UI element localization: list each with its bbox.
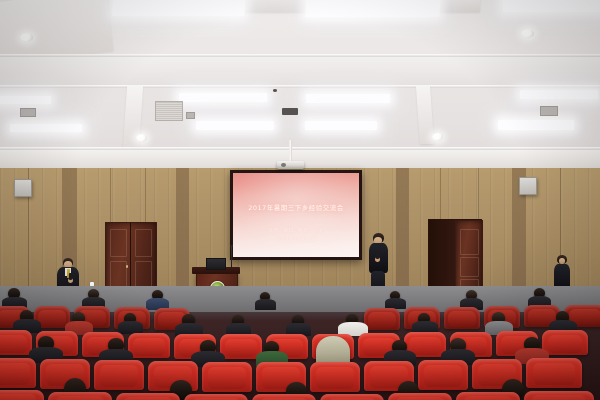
seat-c9[interactable] bbox=[418, 360, 468, 390]
projection-screen: 2017年暑期三下乡经验交流会 动院、动科、机电、人文 2017年10月13日 bbox=[230, 170, 362, 260]
seat-d2[interactable] bbox=[48, 392, 112, 400]
door-left-panel-top bbox=[110, 229, 127, 257]
seat-d1[interactable] bbox=[0, 390, 44, 400]
wall-column-mid bbox=[176, 168, 189, 300]
lectern-microphone-head bbox=[230, 245, 233, 247]
slide-title: 2017年暑期三下乡经验交流会 bbox=[233, 202, 359, 212]
seat-d9[interactable] bbox=[524, 391, 594, 400]
ceiling-vent-small-left bbox=[20, 108, 36, 117]
lectern-microphone-stand bbox=[231, 246, 232, 268]
ceiling-panel-light-2 bbox=[305, 0, 440, 17]
ceiling-panel-light-4 bbox=[0, 96, 51, 104]
seat-d8[interactable] bbox=[456, 392, 520, 400]
slide-subtitle: 动院、动科、机电、人文 bbox=[233, 228, 359, 234]
ceiling-panel-light-1 bbox=[112, 0, 246, 16]
ceiling-smoke-detector bbox=[273, 89, 277, 92]
ceiling-trim-3 bbox=[0, 147, 600, 150]
seat-d5[interactable] bbox=[252, 394, 316, 400]
door-right-panel-mid bbox=[460, 257, 479, 277]
ceiling-panel-light-10 bbox=[520, 90, 598, 99]
seat-b1[interactable] bbox=[0, 330, 32, 355]
ceiling-panel-light-8 bbox=[306, 94, 390, 103]
audience-area bbox=[0, 286, 600, 400]
ceiling-downlight-1 bbox=[20, 33, 33, 42]
wall-speaker-left bbox=[14, 179, 32, 197]
screen-glow bbox=[233, 173, 359, 257]
door-left-panel-top2 bbox=[135, 229, 152, 257]
standing-presenter-microphone bbox=[376, 252, 379, 259]
door-left-handle[interactable] bbox=[126, 265, 128, 268]
seat-c1[interactable] bbox=[0, 358, 36, 388]
ceiling-downlight-2 bbox=[521, 29, 534, 38]
seat-b4[interactable] bbox=[128, 333, 170, 358]
ceiling-panel-light-3 bbox=[503, 0, 600, 12]
ceiling-downlight-4 bbox=[432, 133, 443, 141]
ceiling-panel-light-6 bbox=[179, 93, 267, 102]
seat-d4[interactable] bbox=[184, 394, 248, 400]
seat-c3[interactable] bbox=[94, 360, 144, 390]
seat-d3[interactable] bbox=[116, 393, 180, 400]
ceiling-panel-light-9 bbox=[305, 121, 377, 130]
photo-scene: 2017年暑期三下乡经验交流会 动院、动科、机电、人文 2017年10月13日 bbox=[0, 0, 600, 400]
seat-c11[interactable] bbox=[526, 358, 582, 388]
ceiling-panel-light-5 bbox=[10, 124, 82, 132]
projector-mount-pole bbox=[289, 140, 292, 162]
ceiling-air-vent bbox=[155, 101, 183, 121]
ceiling-sensor-unit bbox=[282, 108, 298, 115]
door-right-panel-top bbox=[460, 229, 479, 255]
seated-speaker-left-microphone bbox=[69, 273, 72, 280]
ceiling-panel-light-11 bbox=[498, 120, 574, 130]
ceiling-downlight-3 bbox=[136, 134, 147, 142]
ceiling-speaker-grille bbox=[186, 112, 195, 119]
audience-shoulders-a4 bbox=[255, 299, 276, 310]
ceiling-trim-1 bbox=[0, 54, 600, 57]
ceiling-vent-small-right bbox=[540, 106, 558, 116]
seat-a6[interactable] bbox=[364, 308, 400, 330]
projector-lens bbox=[281, 163, 286, 167]
wall-speaker-right bbox=[519, 177, 537, 195]
slide-date: 2017年10月13日 bbox=[233, 237, 359, 243]
ceiling-soffit-band bbox=[0, 55, 600, 87]
ceiling-trim-2 bbox=[0, 85, 600, 88]
seat-b13[interactable] bbox=[542, 330, 588, 355]
seat-c7[interactable] bbox=[310, 362, 360, 392]
screen-surface: 2017年暑期三下乡经验交流会 动院、动科、机电、人文 2017年10月13日 bbox=[233, 173, 359, 257]
seat-d7[interactable] bbox=[388, 393, 452, 400]
seat-a8[interactable] bbox=[444, 307, 480, 329]
lectern-laptop[interactable] bbox=[206, 258, 226, 270]
wall-column-right1 bbox=[396, 168, 409, 300]
seat-c5[interactable] bbox=[202, 362, 252, 392]
ceiling-panel-light-7 bbox=[196, 121, 274, 130]
ceiling bbox=[0, 0, 600, 172]
seat-d6[interactable] bbox=[320, 394, 384, 400]
